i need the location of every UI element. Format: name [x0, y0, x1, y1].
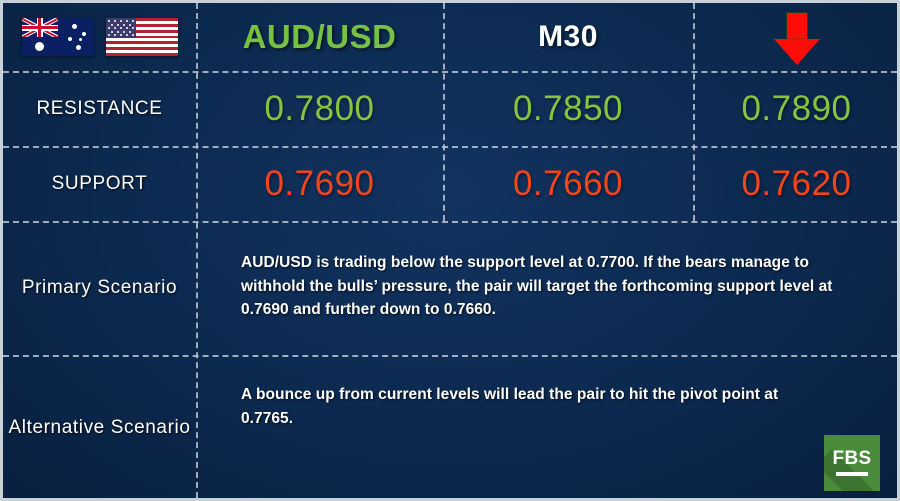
support-value-cell: 0.7660 [443, 146, 693, 221]
us-star-field [106, 18, 136, 38]
southern-cross-star [68, 37, 72, 41]
currency-pair-cell: AUD/USD [196, 3, 443, 71]
fbs-logo-text: FBS [824, 448, 880, 470]
fbs-logo-underline [836, 472, 868, 476]
alternative-scenario-text: A bounce up from current levels will lea… [241, 383, 811, 430]
trend-direction-cell [693, 3, 900, 71]
currency-flags [22, 18, 178, 56]
southern-cross-star [82, 32, 86, 36]
southern-cross-star [79, 38, 82, 41]
commonwealth-star [35, 42, 44, 51]
southern-cross-star [72, 24, 77, 29]
support-value-3: 0.7620 [741, 164, 851, 204]
fbs-logo: FBS [824, 435, 880, 491]
support-label-cell: SUPPORT [3, 146, 196, 221]
support-value-2: 0.7660 [513, 164, 623, 204]
primary-scenario-text: AUD/USD is trading below the support lev… [241, 251, 845, 322]
resistance-value-1: 0.7800 [264, 89, 374, 129]
resistance-value-cell: 0.7850 [443, 71, 693, 146]
alternative-scenario-label-cell: Alternative Scenario [3, 355, 196, 501]
forex-signal-card: AUD/USD M30 RESISTANCE 0.7800 0.7850 0.7… [0, 0, 900, 501]
union-jack-canton [22, 18, 58, 37]
timeframe-cell: M30 [443, 3, 693, 71]
resistance-value-cell: 0.7890 [693, 71, 900, 146]
support-label: SUPPORT [52, 172, 148, 196]
timeframe-label: M30 [538, 20, 598, 54]
support-value-cell: 0.7620 [693, 146, 900, 221]
resistance-label-cell: RESISTANCE [3, 71, 196, 146]
currency-pair-label: AUD/USD [243, 18, 397, 56]
primary-scenario-label: Primary Scenario [22, 276, 177, 300]
united-states-flag [106, 18, 178, 56]
support-value-1: 0.7690 [264, 164, 374, 204]
alternative-scenario-label: Alternative Scenario [8, 416, 190, 440]
support-value-cell: 0.7690 [196, 146, 443, 221]
primary-scenario-label-cell: Primary Scenario [3, 221, 196, 355]
flags-cell [3, 3, 196, 71]
resistance-value-3: 0.7890 [741, 89, 851, 129]
resistance-value-2: 0.7850 [513, 89, 623, 129]
resistance-label: RESISTANCE [36, 97, 162, 121]
resistance-value-cell: 0.7800 [196, 71, 443, 146]
australia-flag [22, 18, 94, 56]
southern-cross-star [76, 45, 81, 50]
